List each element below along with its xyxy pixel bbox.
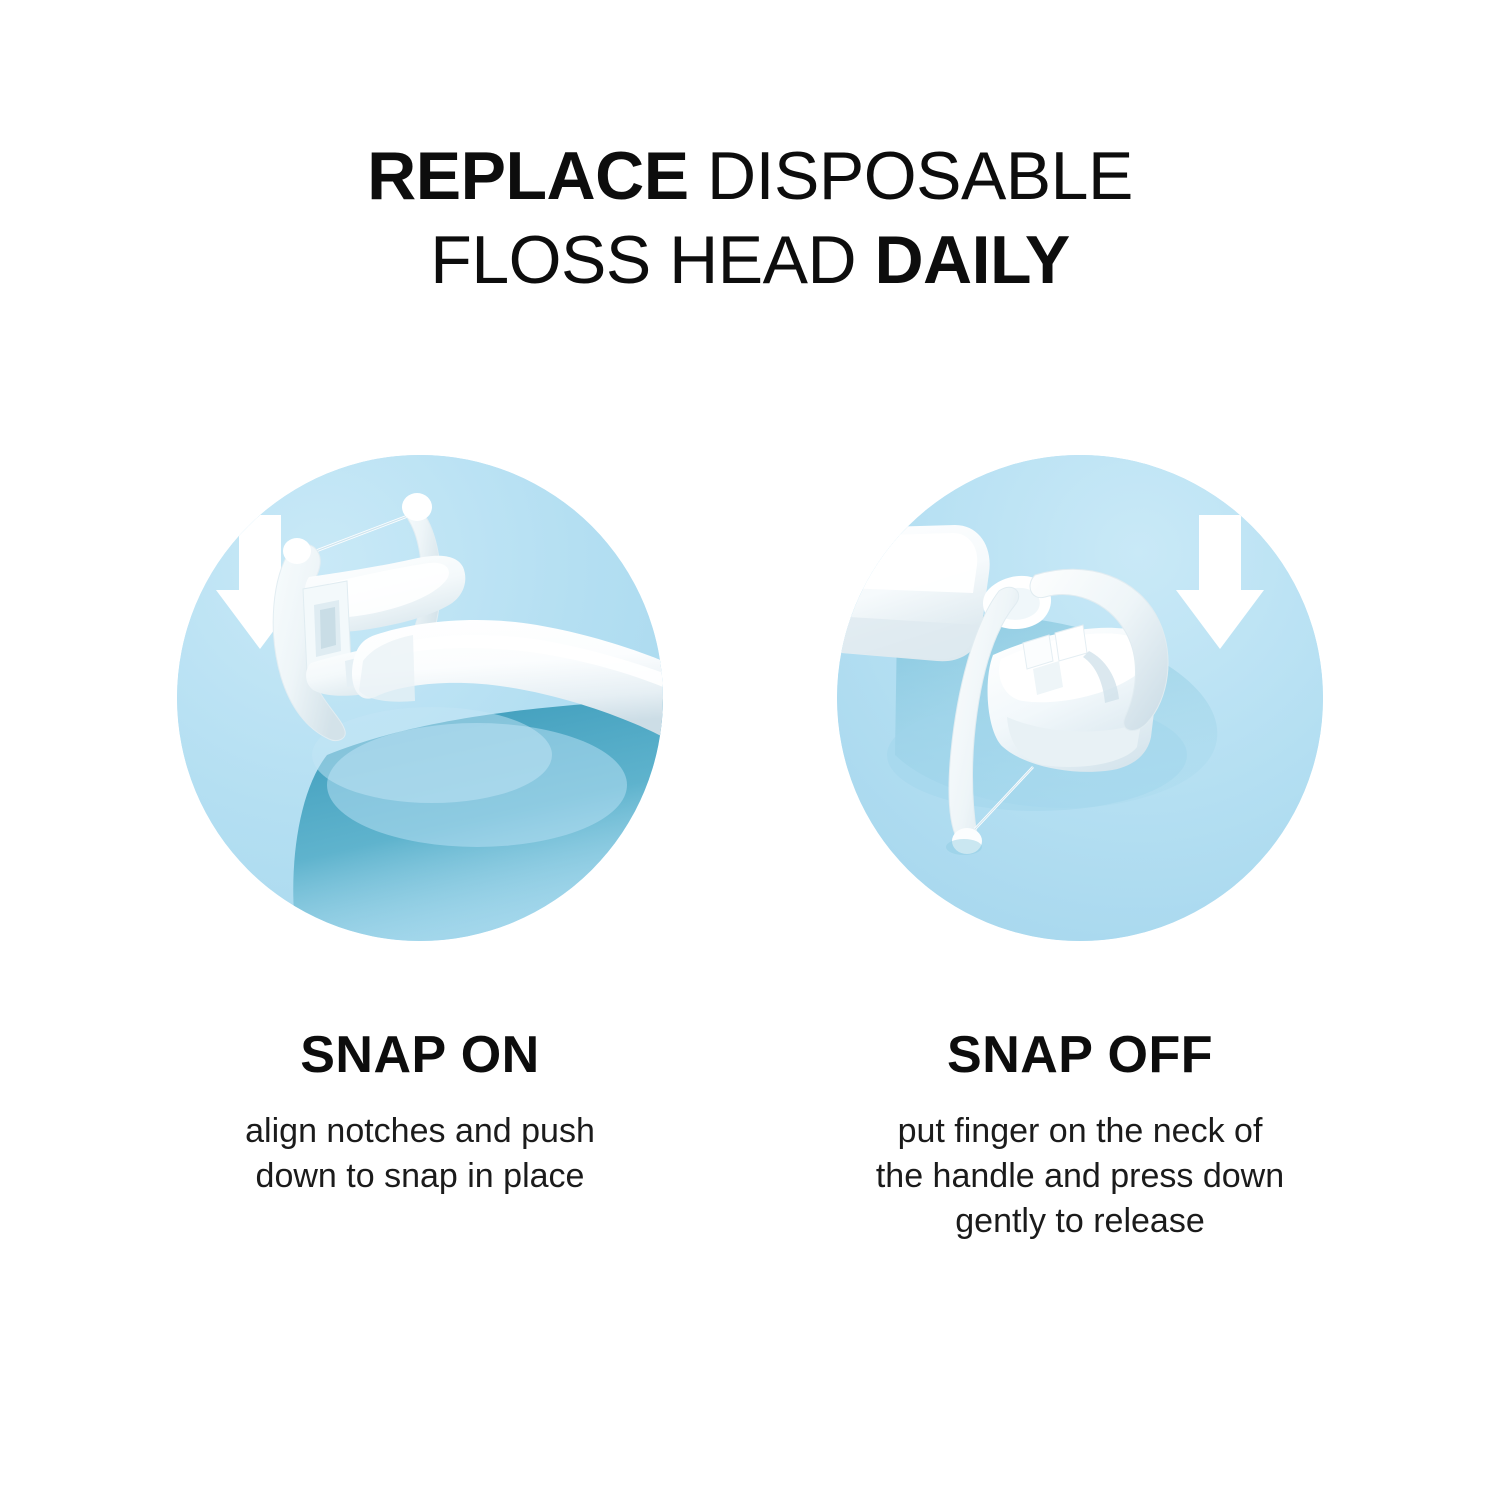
step-body-line: put finger on the neck of bbox=[876, 1109, 1284, 1154]
step-body-snap-off: put finger on the neck of the handle and… bbox=[876, 1109, 1284, 1244]
step-body-line: align notches and push bbox=[245, 1109, 595, 1154]
step-title-snap-off: SNAP OFF bbox=[947, 1027, 1213, 1083]
headline-emphasis-daily: DAILY bbox=[874, 222, 1069, 298]
photo-snap-on bbox=[177, 455, 663, 941]
step-snap-on: SNAP ON align notches and push down to s… bbox=[90, 455, 750, 1199]
step-body-line: the handle and press down bbox=[876, 1154, 1284, 1199]
headline-text-disposable: DISPOSABLE bbox=[689, 138, 1133, 214]
step-snap-off: SNAP OFF put finger on the neck of the h… bbox=[750, 455, 1410, 1244]
step-body-line: gently to release bbox=[876, 1199, 1284, 1244]
headline-line-1: REPLACE DISPOSABLE bbox=[0, 134, 1500, 218]
headline-text-floss-head: FLOSS HEAD bbox=[430, 222, 874, 298]
step-title-snap-on: SNAP ON bbox=[300, 1027, 539, 1083]
page-title: REPLACE DISPOSABLE FLOSS HEAD DAILY bbox=[0, 134, 1500, 302]
step-body-line: down to snap in place bbox=[245, 1154, 595, 1199]
infographic-page: REPLACE DISPOSABLE FLOSS HEAD DAILY bbox=[0, 0, 1500, 1496]
steps-container: SNAP ON align notches and push down to s… bbox=[0, 455, 1500, 1355]
headline-line-2: FLOSS HEAD DAILY bbox=[0, 218, 1500, 302]
photo-snap-off bbox=[837, 455, 1323, 941]
step-body-snap-on: align notches and push down to snap in p… bbox=[245, 1109, 595, 1199]
headline-emphasis-replace: REPLACE bbox=[367, 138, 688, 214]
